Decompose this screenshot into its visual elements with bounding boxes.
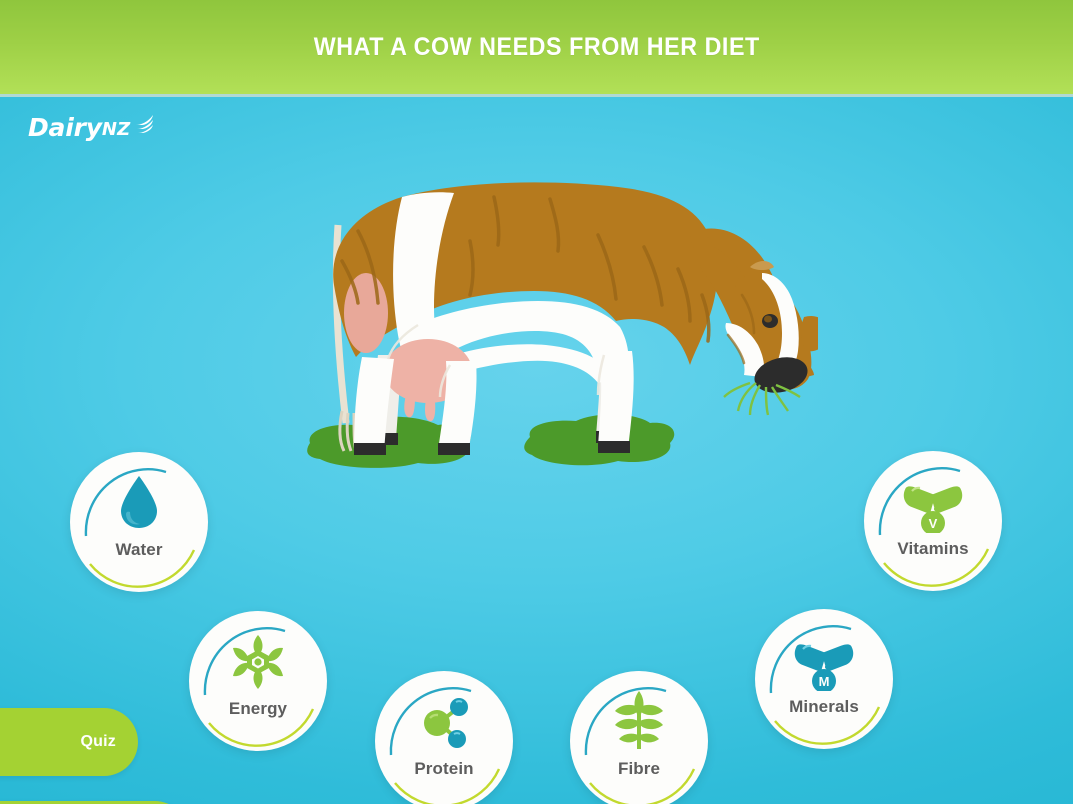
capsule-badge-letter: M [819, 674, 830, 689]
capsule-badge-letter: V [929, 516, 938, 531]
nutrient-node-water[interactable]: Water [70, 452, 208, 592]
nutrient-label: Protein [375, 759, 513, 779]
nutrient-label: Fibre [570, 759, 708, 779]
app-stage: WHAT A COW NEEDS FROM HER DIET Dairy NZ [0, 0, 1073, 804]
logo-wordmark-suffix: NZ [102, 121, 131, 139]
nutrient-node-minerals[interactable]: M Minerals [755, 609, 893, 749]
nutrient-label: Vitamins [864, 539, 1002, 559]
page-title: WHAT A COW NEEDS FROM HER DIET [314, 33, 760, 62]
nav-tab-label: Quiz [81, 733, 116, 751]
molecule-icon [417, 697, 471, 749]
capsule-icon: V [902, 471, 964, 533]
atom-leaf-icon [231, 635, 285, 689]
capsule-icon: M [793, 629, 855, 691]
page-header: WHAT A COW NEEDS FROM HER DIET [0, 0, 1073, 94]
grazing-cow-illustration [298, 175, 818, 475]
nutrient-node-fibre[interactable]: Fibre [570, 671, 708, 804]
nutrient-label: Energy [189, 699, 327, 719]
nutrient-label: Water [70, 540, 208, 560]
logo-wordmark: Dairy [28, 115, 102, 140]
nutrient-node-protein[interactable]: Protein [375, 671, 513, 804]
water-drop-icon [117, 474, 161, 530]
wheat-sprig-icon [614, 691, 664, 749]
nutrient-node-vitamins[interactable]: V Vitamins [864, 451, 1002, 591]
nutrient-label: Minerals [755, 697, 893, 717]
dairynz-logo[interactable]: Dairy NZ [28, 115, 154, 140]
nutrient-node-energy[interactable]: Energy [189, 611, 327, 751]
dairynz-swoosh-icon [132, 111, 156, 135]
activity-board: Dairy NZ [0, 97, 1073, 804]
nav-tab-quiz[interactable]: Quiz [0, 708, 138, 776]
